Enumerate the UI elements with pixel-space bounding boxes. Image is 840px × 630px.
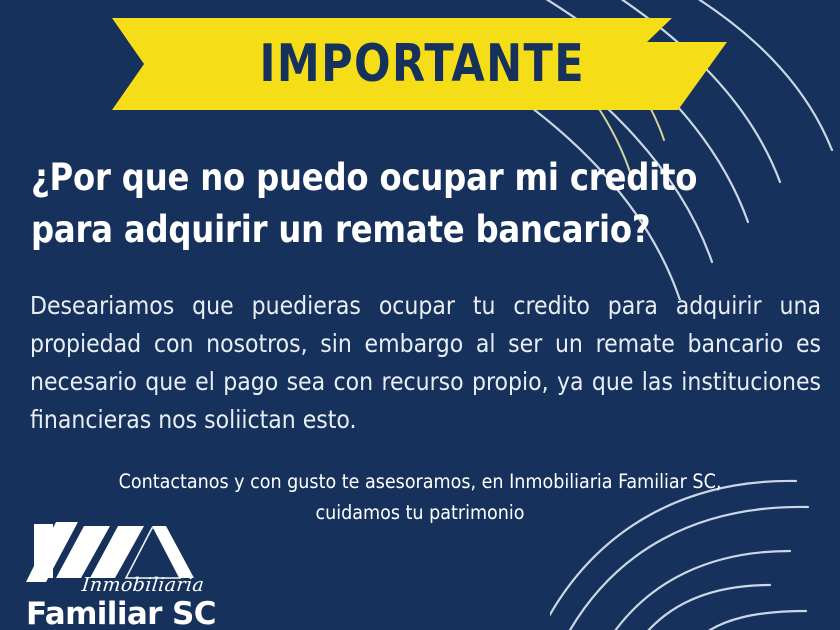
banner-label: IMPORTANTE xyxy=(137,18,703,110)
contact-message: Contactanos y con gusto te asesoramos, e… xyxy=(60,466,780,528)
importante-banner: IMPORTANTE xyxy=(112,18,727,110)
company-logo: Inmobiliaria Familiar SC xyxy=(26,520,216,628)
logo-name-text: Familiar SC xyxy=(26,596,216,630)
body-paragraph: Deseariamos que puedieras ocupar tu cred… xyxy=(30,287,821,439)
page-title: ¿Por que no puedo ocupar mi credito para… xyxy=(31,152,731,256)
promotional-card: IMPORTANTE ¿Por que no puedo ocupar mi c… xyxy=(0,0,840,630)
logo-script-text: Inmobiliaria xyxy=(81,574,206,596)
contact-line-1: Contactanos y con gusto te asesoramos, e… xyxy=(60,466,780,497)
headline-line-2: para adquirir un remate bancario? xyxy=(31,204,710,256)
headline-line-1: ¿Por que no puedo ocupar mi credito xyxy=(31,152,710,204)
